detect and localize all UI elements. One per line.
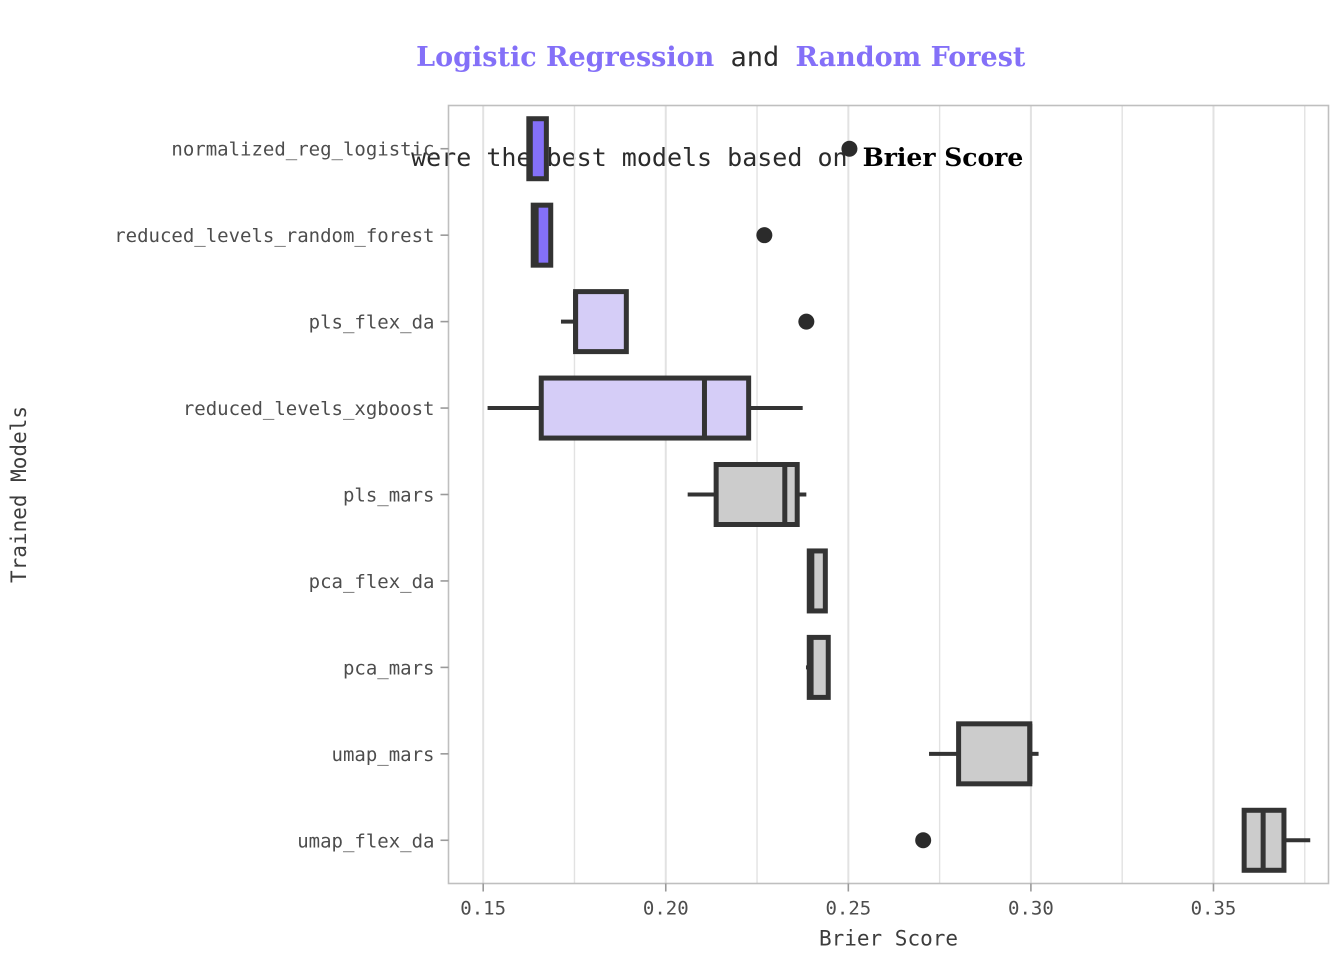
y-tick-label-normalized_reg_logistic: normalized_reg_logistic bbox=[171, 139, 434, 161]
boxplot-pca_flex_da bbox=[809, 551, 825, 611]
y-tick-label-umap_flex_da: umap_flex_da bbox=[297, 830, 434, 852]
chart-page: Logistic Regression and Random Forest we… bbox=[0, 0, 1344, 960]
x-tick-label: 0.15 bbox=[460, 898, 506, 920]
boxplot-series-layer bbox=[488, 119, 1311, 871]
boxplot-umap_flex_da bbox=[915, 810, 1310, 870]
boxplot-umap_mars bbox=[929, 724, 1039, 784]
y-tick-label-umap_mars: umap_mars bbox=[332, 744, 435, 766]
x-tick-label: 0.25 bbox=[825, 898, 871, 920]
x-axis-title: Brier Score bbox=[819, 927, 958, 951]
y-tick-label-pls_flex_da: pls_flex_da bbox=[309, 312, 435, 334]
box-iqr bbox=[541, 378, 748, 438]
x-axis-layer: 0.150.200.250.300.35 bbox=[460, 884, 1236, 920]
boxplot-pls_flex_da bbox=[561, 292, 814, 352]
x-tick-label: 0.20 bbox=[643, 898, 689, 920]
y-axis-title: Trained Models bbox=[7, 406, 31, 583]
y-tick-label-reduced_levels_random_forest: reduced_levels_random_forest bbox=[114, 225, 434, 247]
box-iqr bbox=[576, 292, 627, 352]
y-tick-label-pca_flex_da: pca_flex_da bbox=[309, 571, 435, 593]
outlier-point bbox=[756, 227, 772, 243]
boxplot-reduced_levels_random_forest bbox=[533, 205, 772, 265]
outlier-point bbox=[841, 141, 857, 157]
y-axis-layer: normalized_reg_logisticreduced_levels_ra… bbox=[114, 139, 448, 853]
y-tick-label-reduced_levels_xgboost: reduced_levels_xgboost bbox=[183, 398, 435, 420]
boxplot-chart: 0.150.200.250.300.35 normalized_reg_logi… bbox=[0, 0, 1344, 960]
plot-panel-border bbox=[449, 106, 1329, 884]
outlier-point bbox=[798, 314, 814, 330]
y-tick-label-pls_mars: pls_mars bbox=[343, 485, 435, 507]
boxplot-reduced_levels_xgboost bbox=[488, 378, 803, 438]
panel-border-layer bbox=[449, 106, 1329, 884]
boxplot-pls_mars bbox=[688, 465, 807, 525]
grid-layer bbox=[483, 106, 1305, 884]
boxplot-normalized_reg_logistic bbox=[529, 119, 858, 179]
outlier-point bbox=[915, 832, 931, 848]
x-tick-label: 0.35 bbox=[1191, 898, 1237, 920]
y-tick-label-pca_mars: pca_mars bbox=[343, 657, 435, 679]
boxplot-pca_mars bbox=[806, 637, 828, 697]
box-iqr bbox=[959, 724, 1030, 784]
x-tick-label: 0.30 bbox=[1008, 898, 1054, 920]
